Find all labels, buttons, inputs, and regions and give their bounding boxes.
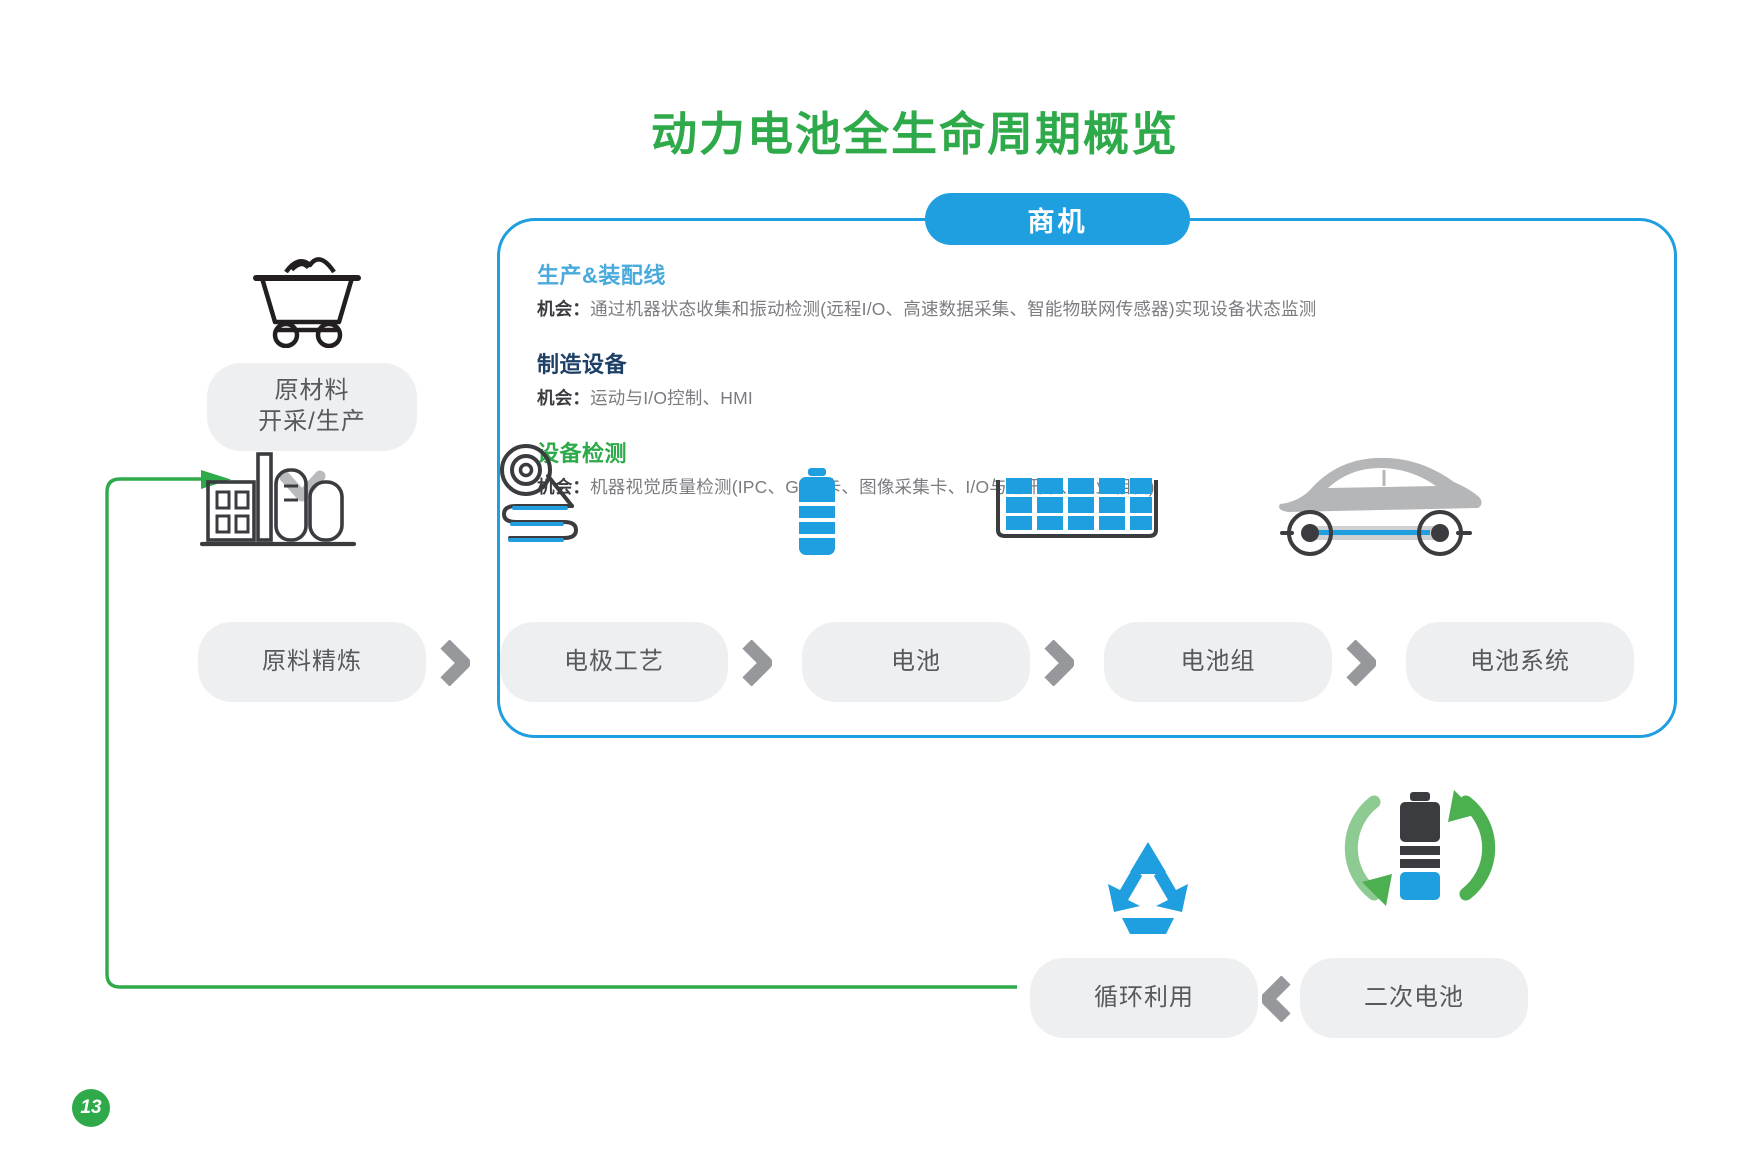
chevron-left-icon-1 (1262, 976, 1288, 1020)
stage-label-refining: 原料精炼 (262, 647, 362, 678)
stage-pill-system[interactable]: 电池系统 (1406, 622, 1634, 702)
section-detail-manufacturing-equipment: 机会：运动与I/O控制、HMI (537, 385, 1637, 410)
mining-cart-icon (242, 238, 372, 348)
opportunity-detail-1: 运动与I/O控制、HMI (590, 388, 753, 408)
chevron-right-icon-2 (742, 640, 768, 684)
battery-recycle-arrows-icon (1330, 758, 1510, 938)
stage-pill-second-life[interactable]: 二次电池 (1300, 958, 1528, 1038)
stage-pill-raw-material[interactable]: 原材料 开采/生产 (207, 363, 417, 451)
chevron-right-icon-1 (440, 640, 466, 684)
refinery-plant-icon (198, 440, 358, 555)
stage-label-second-life: 二次电池 (1364, 983, 1464, 1014)
chevron-right-icon-3 (1044, 640, 1070, 684)
stage-pill-module[interactable]: 电池组 (1104, 622, 1332, 702)
opportunity-detail-0: 通过机器状态收集和振动检测(远程I/O、高速数据采集、智能物联网传感器)实现设备… (590, 299, 1316, 319)
opportunity-label-0: 机会： (537, 299, 590, 319)
section-heading-production-line: 生产&装配线 (537, 258, 1637, 290)
stage-pill-recycling[interactable]: 循环利用 (1030, 958, 1258, 1038)
stage-label-recycling: 循环利用 (1094, 983, 1194, 1014)
stage-label-line2: 开采/生产 (258, 407, 366, 438)
battery-module-icon (992, 472, 1162, 542)
stage-label-module: 电池组 (1181, 647, 1256, 678)
slide-canvas: 动力电池全生命周期概览 商机 生产&装配线 机会：通过机器状态收集和振动检测(远… (0, 0, 1764, 1172)
stage-pill-refining[interactable]: 原料精炼 (198, 622, 426, 702)
battery-cell-icon (790, 466, 844, 558)
page-number-badge: 13 (72, 1089, 110, 1127)
stage-label-electrode: 电极工艺 (564, 647, 664, 678)
stage-label-line1: 原材料 (258, 376, 366, 407)
page-title: 动力电池全生命周期概览 (0, 98, 1764, 164)
stage-label-raw-material: 原材料 开采/生产 (258, 376, 366, 437)
stage-label-cell: 电池 (891, 647, 941, 678)
chevron-right-icon-4 (1346, 640, 1372, 684)
section-detail-production-line: 机会：通过机器状态收集和振动检测(远程I/O、高速数据采集、智能物联网传感器)实… (537, 296, 1637, 321)
section-heading-manufacturing-equipment: 制造设备 (537, 347, 1637, 379)
stage-pill-cell[interactable]: 电池 (802, 622, 1030, 702)
recycle-icon (1096, 840, 1200, 938)
stage-pill-electrode[interactable]: 电极工艺 (500, 622, 728, 702)
stage-label-system: 电池系统 (1470, 647, 1570, 678)
opportunity-badge: 商机 (925, 193, 1190, 245)
opportunity-label-1: 机会： (537, 388, 590, 408)
ev-car-icon (1258, 438, 1488, 566)
electrode-roll-icon (488, 444, 598, 556)
